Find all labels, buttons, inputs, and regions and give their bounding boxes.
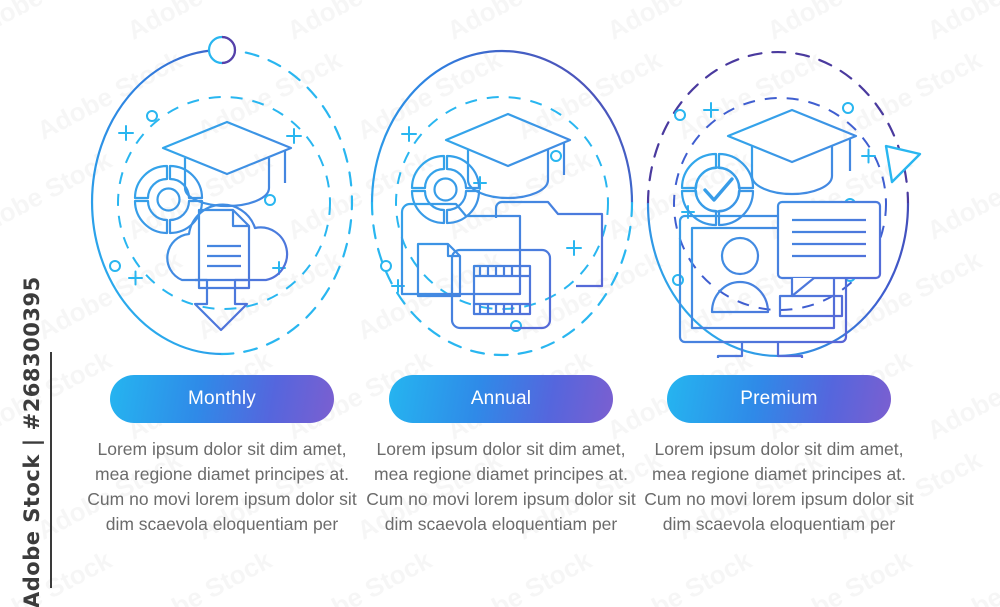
outer-ring-dashed-arc: [648, 52, 908, 204]
step-pill-annual[interactable]: Annual: [389, 375, 613, 423]
ring-graphic-premium: [634, 28, 924, 358]
watermark-tile: Adobe Stock: [992, 45, 1000, 147]
step-pill-premium[interactable]: Premium: [667, 375, 891, 423]
step-label: Annual: [471, 388, 531, 410]
ring-graphic-monthly: [77, 28, 367, 358]
infographic-canvas: Adobe StockAdobe StockAdobe StockAdobe S…: [0, 0, 1000, 607]
step-column-premium: Premium Lorem ipsum dolor sit dim amet, …: [634, 0, 924, 607]
step-column-annual: Annual Lorem ipsum dolor sit dim amet, m…: [356, 0, 646, 607]
graduation-cap-icon: [728, 110, 856, 194]
watermark-tile: Adobe Stock: [922, 145, 1000, 247]
step-description: Lorem ipsum dolor sit dim amet, mea regi…: [366, 437, 636, 537]
flow-arrow-icon: [886, 146, 920, 182]
watermark-divider: [50, 352, 52, 588]
watermark-tile: Adobe Stock: [922, 0, 1000, 46]
watermark-label: Adobe Stock | #268300395: [20, 348, 44, 607]
inner-dashed-ring: [118, 97, 330, 309]
step-label: Monthly: [188, 388, 256, 410]
step-label: Premium: [740, 388, 817, 410]
outer-ring-solid-arc: [372, 51, 632, 203]
step-description: Lorem ipsum dolor sit dim amet, mea regi…: [644, 437, 914, 537]
watermark-tile: Adobe Stock: [922, 545, 1000, 607]
step-column-monthly: Monthly Lorem ipsum dolor sit dim amet, …: [77, 0, 367, 607]
watermark-tile: Adobe Stock: [992, 445, 1000, 547]
watermark-tile: Adobe Stock: [922, 345, 1000, 447]
adobe-stock-watermark: Adobe Stock | #268300395: [0, 0, 56, 607]
step-pill-monthly[interactable]: Monthly: [110, 375, 334, 423]
outer-ring-dashed-arc: [372, 203, 632, 355]
donut-check-icon: [682, 154, 753, 225]
graduation-cap-icon: [163, 122, 291, 206]
watermark-tile: Adobe Stock: [992, 245, 1000, 347]
step-description: Lorem ipsum dolor sit dim amet, mea regi…: [87, 437, 357, 537]
ring-graphic-annual: [356, 28, 646, 358]
cloud-download-document-icon: [167, 205, 287, 330]
